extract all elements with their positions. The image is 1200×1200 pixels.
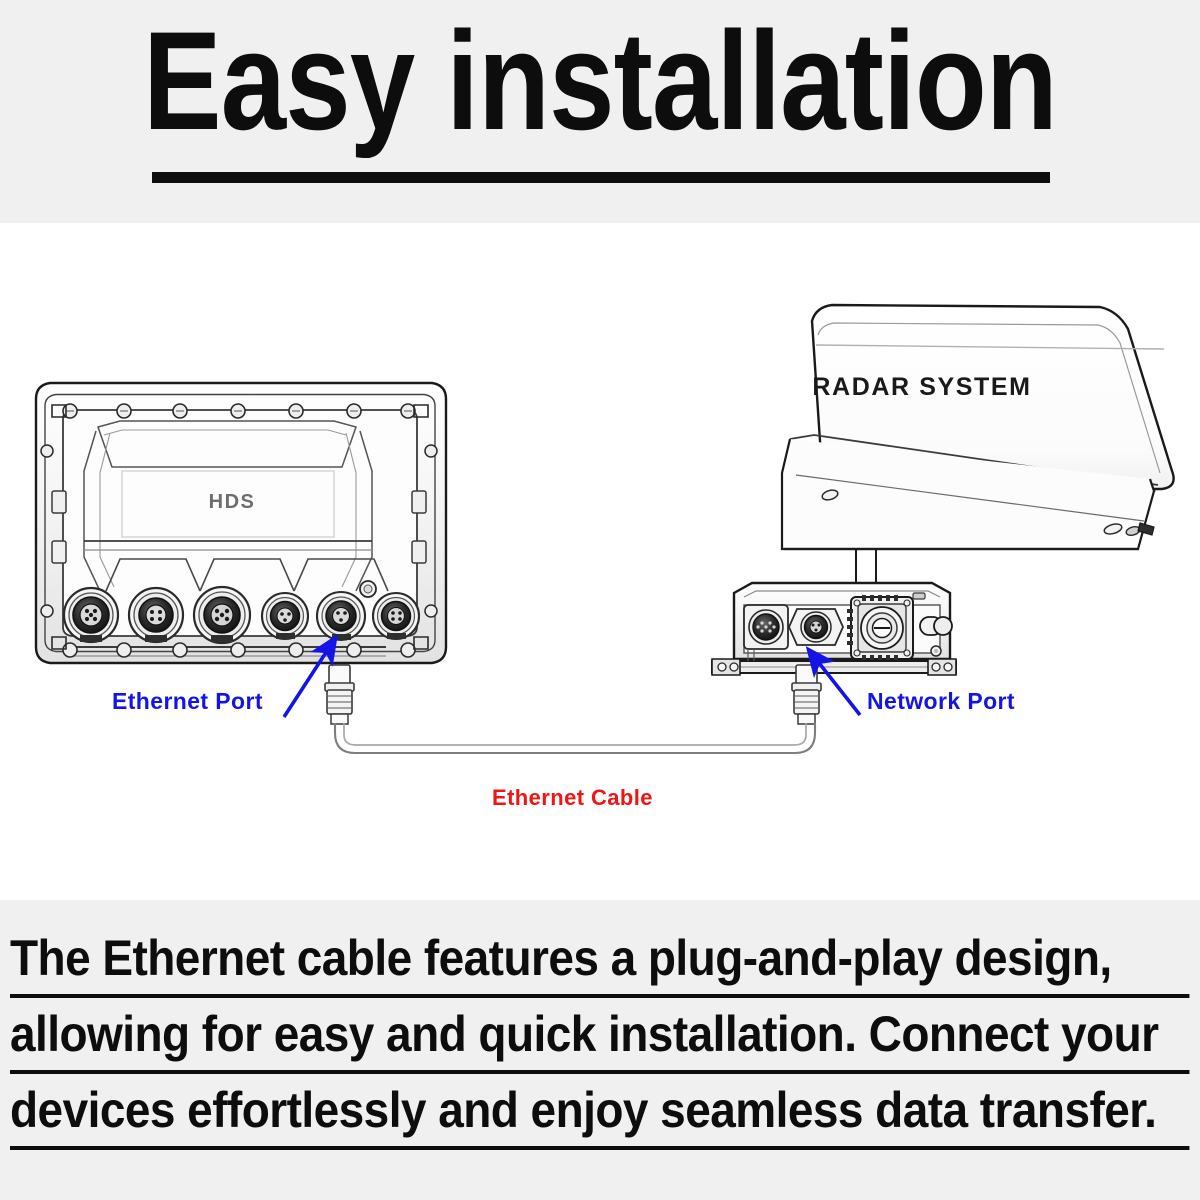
product-infographic: Easy installation	[0, 0, 1200, 1200]
radar-base-marker	[913, 593, 925, 599]
ethernet-port-label: Ethernet Port	[112, 688, 263, 715]
footer-line-2: allowing for easy and quick installation…	[10, 998, 1189, 1074]
hds-port-4[interactable]	[262, 593, 308, 639]
radar-mast	[856, 549, 876, 587]
radar-base-connector-a[interactable]	[744, 605, 788, 649]
footer-line-3: devices effortlessly and enjoy seamless …	[10, 1074, 1189, 1150]
hds-port-6[interactable]	[373, 593, 419, 639]
title-underline-rule	[152, 172, 1050, 183]
radar-dome-label: RADAR SYSTEM	[812, 373, 1031, 401]
hds-port-1[interactable]	[64, 588, 118, 642]
ethernet-cable-label: Ethernet Cable	[492, 785, 653, 811]
radar-base-cable-gland	[920, 617, 952, 635]
footer-band: The Ethernet cable features a plug-and-p…	[0, 900, 1200, 1200]
hds-brand-label: HDS	[209, 491, 256, 513]
installation-diagram: HDS	[0, 223, 1200, 900]
network-port-label: Network Port	[867, 688, 1015, 715]
cable-route-inner	[344, 724, 806, 745]
hds-display-unit[interactable]: HDS	[36, 383, 446, 663]
hds-port-3[interactable]	[194, 587, 250, 643]
hds-port-5-ethernet[interactable]	[317, 592, 365, 640]
hds-blind-plug-inner	[364, 585, 372, 593]
radar-base-unit[interactable]	[712, 549, 956, 675]
page-title: Easy installation	[96, 6, 1104, 156]
cable-route-outer	[335, 724, 815, 753]
radar-base-screw-inner	[934, 649, 938, 653]
footer-line-1: The Ethernet cable features a plug-and-p…	[10, 922, 1189, 998]
radar-base-flange-connector[interactable]	[847, 595, 913, 661]
radar-base-network-port[interactable]	[789, 609, 843, 645]
ethernet-cable[interactable]	[325, 665, 821, 753]
cable-connector-right[interactable]	[792, 665, 821, 724]
footer-description: The Ethernet cable features a plug-and-p…	[10, 922, 1190, 1150]
cable-connector-left[interactable]	[325, 665, 354, 724]
hds-port-2[interactable]	[129, 588, 183, 642]
radar-dome-unit[interactable]: RADAR SYSTEM	[782, 305, 1174, 549]
header-band: Easy installation	[0, 0, 1200, 223]
